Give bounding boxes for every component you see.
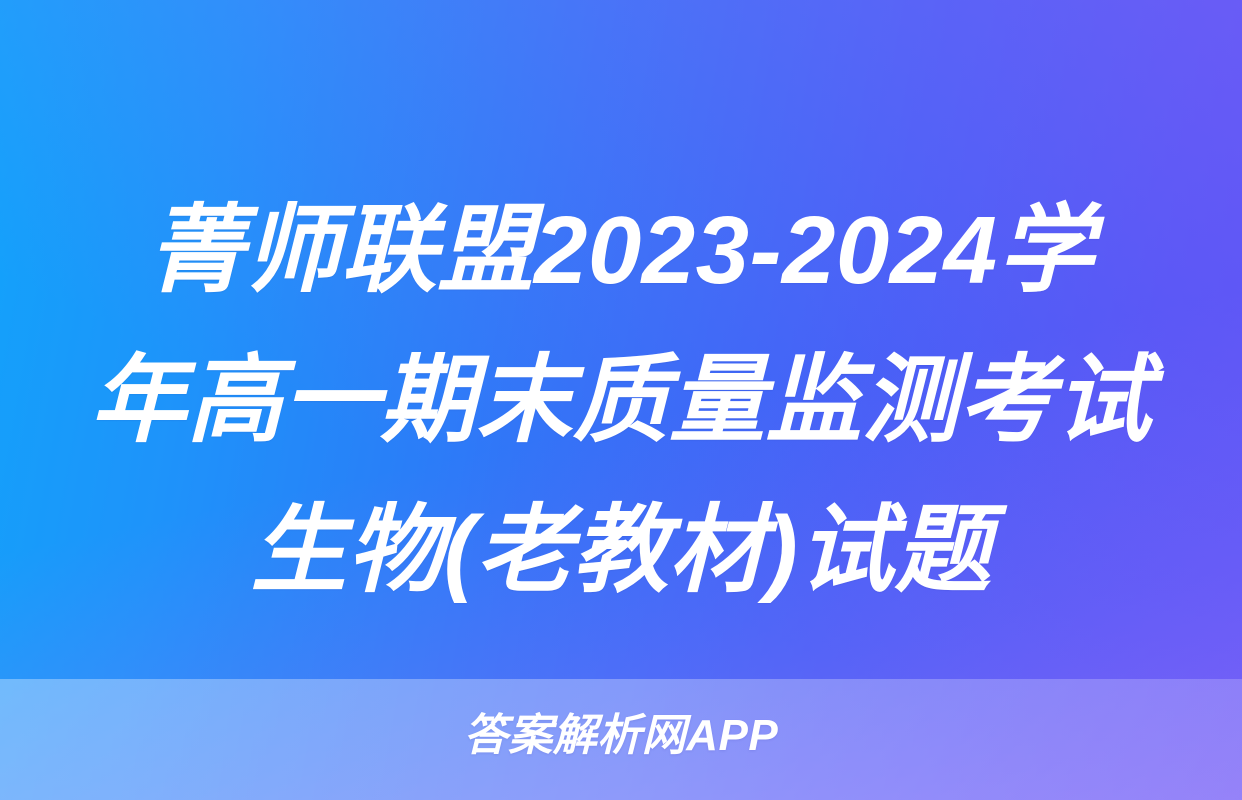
title-line-1: 菁师联盟2023-2024学 — [0, 176, 1242, 326]
footer-brand-band: 答案解析网APP — [0, 679, 1242, 800]
title-line-2: 年高一期末质量监测考试 — [0, 326, 1242, 476]
footer-brand-label: 答案解析网APP — [464, 714, 778, 758]
page-title: 菁师联盟2023-2024学 年高一期末质量监测考试 生物(老教材)试题 — [0, 176, 1242, 626]
title-line-3: 生物(老教材)试题 — [0, 476, 1242, 626]
exam-cover-banner: 菁师联盟2023-2024学 年高一期末质量监测考试 生物(老教材)试题 答案解… — [0, 0, 1242, 800]
